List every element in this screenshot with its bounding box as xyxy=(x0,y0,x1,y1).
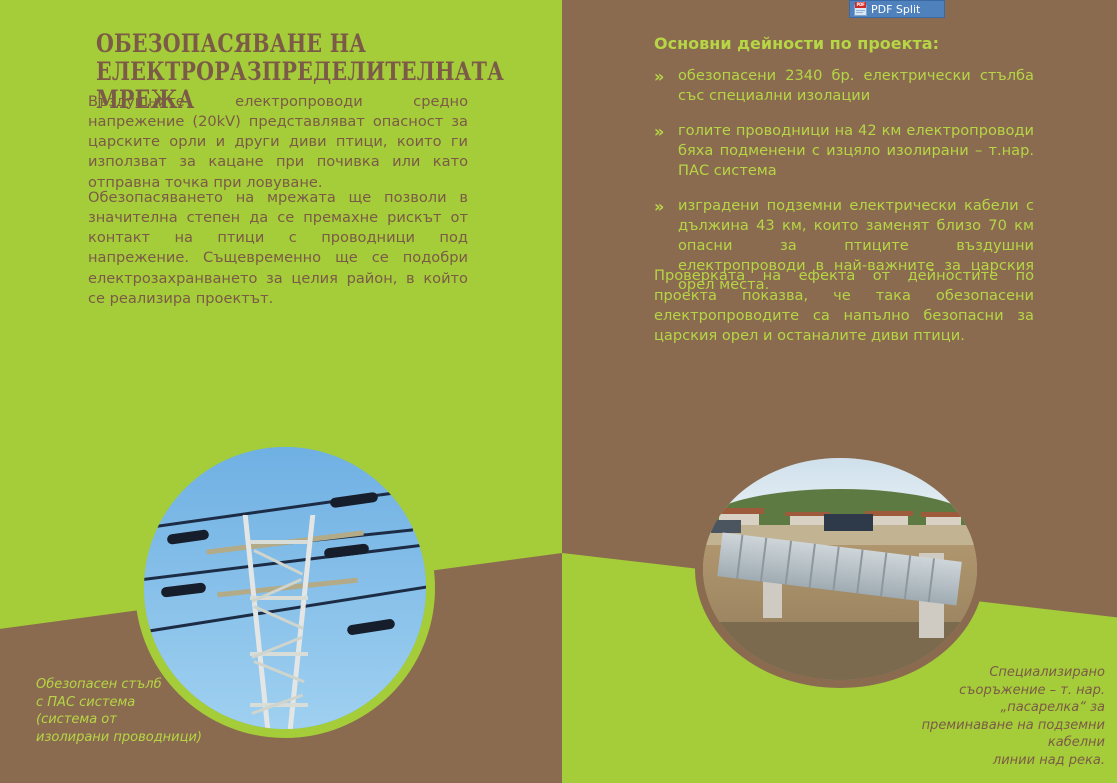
left-paragraph-1: Въздушните електропроводи средно напреже… xyxy=(88,92,468,193)
pdf-split-button[interactable]: PDF PDF Split xyxy=(849,0,945,18)
truss-member xyxy=(928,558,935,602)
truss-member xyxy=(785,540,792,584)
car xyxy=(711,520,741,533)
truss-member xyxy=(761,538,768,582)
left-paragraph-2: Обезопасяването на мрежата ще позволи в … xyxy=(88,188,468,309)
truss-member xyxy=(832,546,839,590)
truss-member xyxy=(856,549,863,593)
tower-diagonal xyxy=(254,549,304,575)
pdf-document-icon: PDF xyxy=(854,2,867,16)
list-item-label: обезопасени 2340 бр. електрически стълба… xyxy=(678,66,1034,105)
truss-member xyxy=(809,543,816,587)
chevron-double-right-icon: » xyxy=(654,121,678,180)
tower-diagonal xyxy=(254,605,305,630)
list-item: » обезопасени 2340 бр. електрически стъл… xyxy=(654,66,1034,105)
roof xyxy=(714,508,764,513)
list-item: » голите проводници на 42 км електропров… xyxy=(654,121,1034,180)
chevron-double-right-icon: » xyxy=(654,66,678,105)
truss-member xyxy=(880,552,887,596)
truss-member xyxy=(904,555,911,599)
conclusion-paragraph: Проверката на ефекта от дейностите по пр… xyxy=(654,266,1034,347)
truck xyxy=(824,514,873,532)
activities-heading: Основни дейности по проекта: xyxy=(654,34,1054,53)
right-photo-caption: Специализирано съоръжение – т. нар. „пас… xyxy=(905,664,1105,769)
left-photo-caption: Обезопасен стълб с ПАС система (система … xyxy=(36,676,266,746)
tower-brace xyxy=(250,540,308,544)
list-item-label: голите проводници на 42 км електропровод… xyxy=(678,121,1034,180)
truss-member xyxy=(737,535,744,579)
footbridge-illustration xyxy=(703,458,977,680)
brochure-page: ОБЕЗОПАСЯВАНЕ НА ЕЛЕКТРОРАЗПРЕДЕЛИТЕЛНАТ… xyxy=(0,0,1117,783)
pdf-icon-label: PDF xyxy=(855,2,866,8)
pdf-split-label: PDF Split xyxy=(871,3,920,16)
cable-footbridge-photo xyxy=(695,450,985,688)
roof xyxy=(921,512,966,517)
